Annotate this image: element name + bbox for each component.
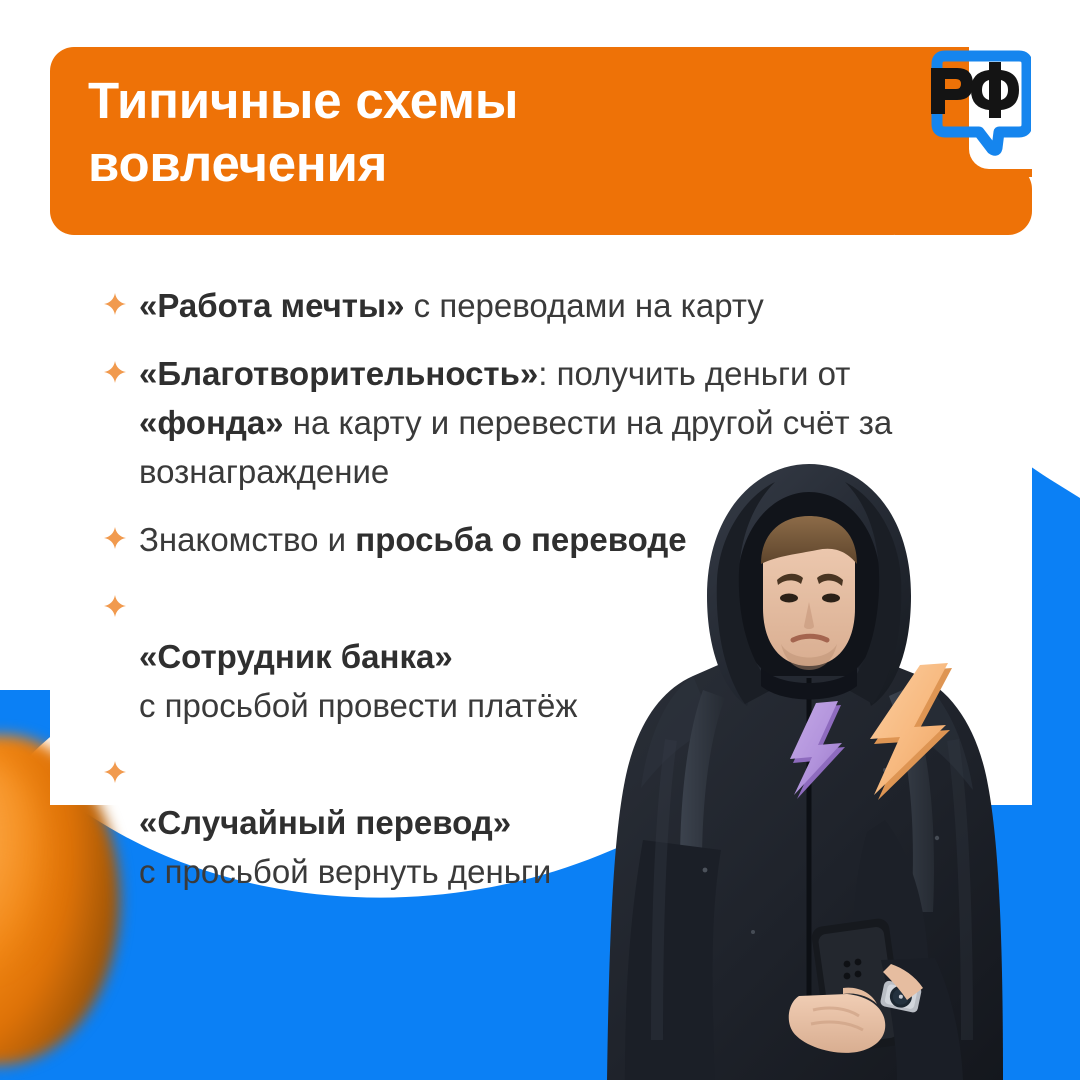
- diamond-bullet-icon: [103, 760, 133, 784]
- lightning-bolt-peach: [870, 663, 952, 800]
- list-item-rest: : получить деньги от: [538, 355, 850, 392]
- list-item-rest: с просьбой провести платёж: [139, 687, 577, 724]
- infographic-canvas: Типичные схемы вовлечения «Работа: [0, 0, 1080, 1080]
- diamond-bullet-icon: [103, 526, 133, 550]
- list-item-emphasis-2: «фонда»: [139, 404, 284, 441]
- eye-right: [822, 594, 840, 603]
- lightning-bolts: [770, 655, 1000, 835]
- list-item-emphasis: «Благотворительность»: [139, 355, 538, 392]
- header-lower-right-bar: [895, 165, 1032, 235]
- eye-left: [780, 594, 798, 603]
- list-item-rest: с переводами на карту: [404, 287, 763, 324]
- fabric-speck-3: [935, 836, 939, 840]
- lightning-bolt-purple: [790, 701, 845, 799]
- fabric-speck-1: [703, 868, 708, 873]
- list-item-emphasis: «Случайный перевод»: [139, 804, 511, 841]
- rf-logo-letters: [931, 62, 1019, 118]
- diamond-bullet-icon: [103, 594, 133, 618]
- list-item-emphasis: «Сотрудник банка»: [139, 638, 453, 675]
- rf-logo[interactable]: [927, 48, 1031, 158]
- arm-left: [625, 840, 721, 1080]
- list-item: «Работа мечты» с переводами на карту: [103, 281, 915, 330]
- page-title: Типичные схемы вовлечения: [88, 69, 848, 195]
- diamond-bullet-icon: [103, 360, 133, 384]
- list-item-rest: с просьбой вернуть деньги: [139, 853, 551, 890]
- list-item-text-dream-job: «Работа мечты» с переводами на карту: [139, 281, 915, 330]
- diamond-bullet-icon: [103, 292, 133, 316]
- list-item-rest: Знакомство и: [139, 521, 355, 558]
- header-banner: Типичные схемы вовлечения: [50, 47, 1032, 235]
- fabric-speck-2: [751, 930, 755, 934]
- list-item-emphasis: «Работа мечты»: [139, 287, 404, 324]
